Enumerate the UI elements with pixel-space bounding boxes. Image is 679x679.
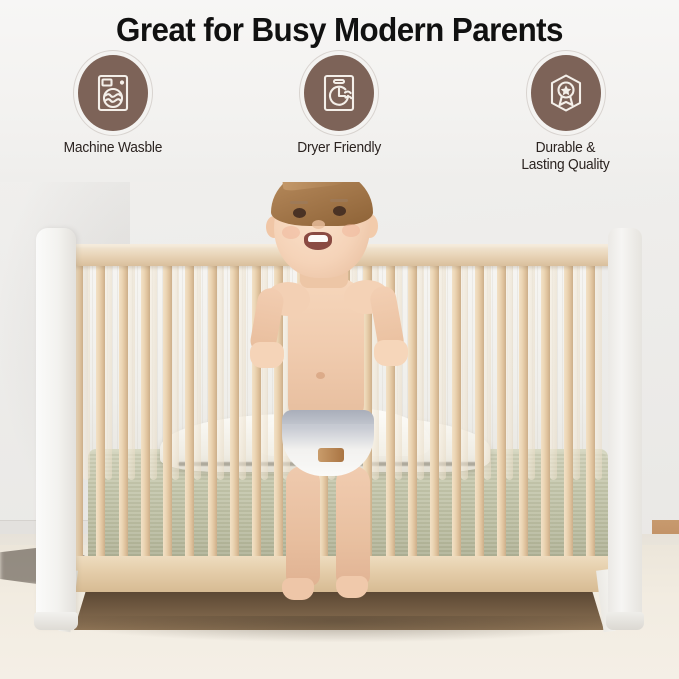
crib-slat (564, 256, 573, 562)
baby-right-eyebrow (330, 199, 348, 202)
baby-right-leg (336, 466, 370, 586)
crib-slat (586, 256, 595, 562)
baby-navel (316, 372, 325, 379)
crib-slat (96, 256, 105, 562)
baby-left-cheek (282, 226, 300, 239)
crib-slat (475, 256, 484, 562)
baby (238, 160, 418, 490)
crib-slat-far (150, 252, 157, 480)
feature-label: Durable & Lasting Quality (522, 140, 610, 174)
crib-slat (497, 256, 506, 562)
page-title: Great for Busy Modern Parents (17, 10, 662, 50)
feature-banner: Great for Busy Modern Parents (0, 0, 679, 182)
washing-machine-icon (95, 73, 131, 113)
quality-badge (531, 55, 601, 131)
feature-list: Machine Wasble Dryer (0, 55, 679, 175)
crib-slat (185, 256, 194, 562)
crib-slat (430, 256, 439, 562)
feature-label: Dryer Friendly (298, 140, 382, 157)
feature-label-line1: Durable & (536, 140, 596, 156)
crib-slat (452, 256, 461, 562)
dryer-icon (321, 73, 357, 113)
dryer-badge (304, 55, 374, 131)
crib-slat (119, 256, 128, 562)
crib-slat (519, 256, 528, 562)
diaper-waistband (282, 410, 374, 424)
crib-right-foot (606, 612, 644, 630)
crib-slat-far (172, 252, 179, 480)
feature-durable-quality: Durable & Lasting Quality (466, 55, 666, 174)
crib-slat-far (573, 252, 580, 480)
diaper-front-tab (318, 448, 344, 462)
crib-right-post (608, 228, 642, 628)
baby-teeth (308, 235, 328, 242)
washing-machine-badge (78, 55, 148, 131)
crib-slat-far (528, 252, 535, 480)
crib-slat-far (595, 252, 602, 480)
crib-slat (541, 256, 550, 562)
baby-right-foot (336, 576, 368, 598)
crib-slat-far (461, 252, 468, 480)
baby-right-eye (333, 206, 346, 216)
baby-nose (312, 220, 325, 229)
crib-slat-far (105, 252, 112, 480)
crib-slat-far (217, 252, 224, 480)
crib-slat-far (194, 252, 201, 480)
crib-slat-far (128, 252, 135, 480)
crib-slat-far (506, 252, 513, 480)
baby-left-eye (293, 208, 306, 218)
baby-right-cheek (342, 224, 360, 237)
crib-slat-far (550, 252, 557, 480)
baby-left-eyebrow (290, 201, 308, 204)
feature-machine-washable: Machine Wasble (13, 55, 213, 157)
crib-slat (163, 256, 172, 562)
product-lifestyle-image: Great for Busy Modern Parents (0, 0, 679, 679)
crib-left-foot (34, 612, 78, 630)
baby-right-hand (374, 340, 408, 366)
crib-slat-far (484, 252, 491, 480)
baby-left-leg (286, 466, 320, 586)
quality-badge-icon (547, 73, 585, 113)
crib-slat (208, 256, 217, 562)
crib-slat (141, 256, 150, 562)
baby-left-hand (250, 342, 284, 368)
feature-dryer-friendly: Dryer Friendly (239, 55, 439, 157)
feature-label-line2: Lasting Quality (522, 157, 610, 173)
crib-left-post (36, 228, 76, 628)
feature-label: Machine Wasble (64, 140, 163, 157)
crib-slat-far (439, 252, 446, 480)
crib-slat-far (83, 252, 90, 480)
baby-left-foot (282, 578, 314, 600)
